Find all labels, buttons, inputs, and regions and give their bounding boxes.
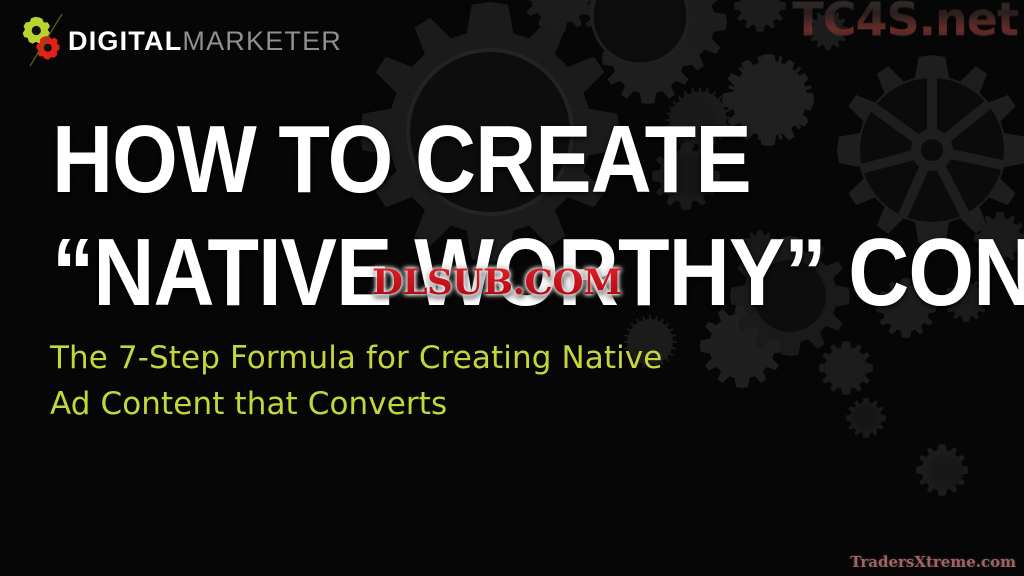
subtitle-line-2: Ad Content that Converts (50, 382, 690, 428)
title-line-1: HOW TO CREATE (52, 103, 844, 216)
logo-word-marketer: MARKETER (182, 26, 342, 56)
digitalmarketer-logo[interactable]: DIGITALMARKETER (14, 12, 342, 68)
logo-wordmark: DIGITALMARKETER (68, 28, 342, 55)
watermark-tc4s: TC4S.net (792, 0, 1018, 42)
slide-canvas: DIGITALMARKETER HOW TO CREATE “NATIVE WO… (0, 0, 1024, 576)
slide-subtitle: The 7-Step Formula for Creating Native A… (50, 336, 690, 428)
gear-logo-icon (14, 12, 72, 68)
logo-word-digital: DIGITAL (68, 26, 182, 56)
subtitle-line-1: The 7-Step Formula for Creating Native (50, 336, 690, 382)
watermark-dlsub: DLSUB.COM (372, 263, 622, 303)
watermark-tradersxtreme: TradersXtreme.com (850, 555, 1016, 570)
